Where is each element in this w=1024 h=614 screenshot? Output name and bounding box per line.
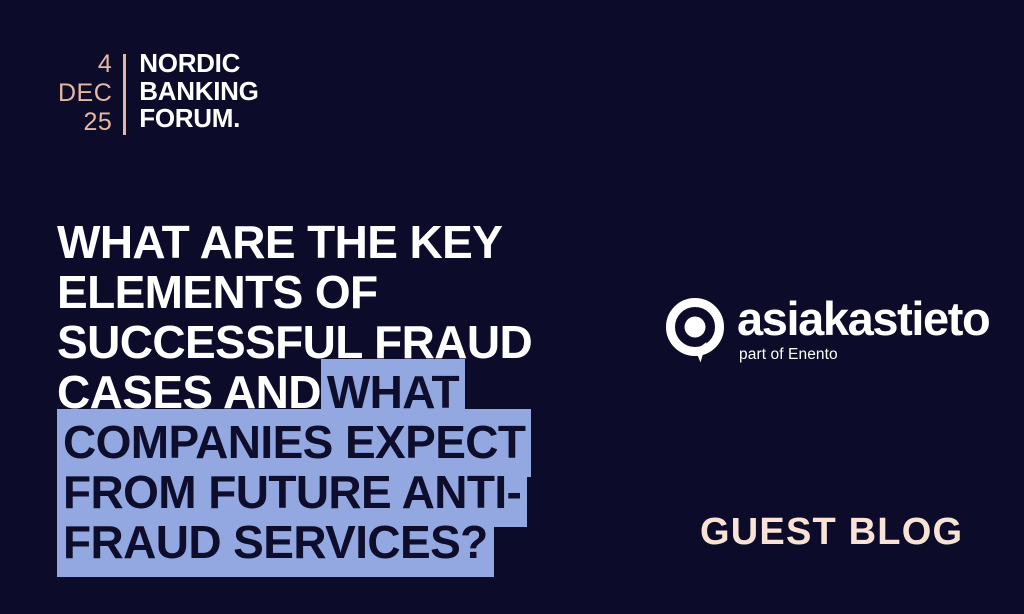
event-date-day: 4: [98, 50, 112, 79]
brand-name: asiakastieto: [737, 296, 989, 341]
headline-line-1-plain: WHAT ARE THE KEY: [57, 216, 502, 268]
headline-line-7: FRAUD SERVICES?: [57, 517, 677, 567]
event-logo: 4 DEC 25 NORDIC BANKING FORUM.: [58, 50, 259, 137]
event-date: 4 DEC 25: [58, 50, 123, 137]
brand-tagline: part of Enento: [739, 346, 989, 364]
event-date-year: 25: [83, 108, 112, 137]
event-name-line-2: BANKING: [139, 78, 258, 106]
brand-text: asiakastieto part of Enento: [737, 296, 989, 364]
location-pin-icon: [666, 298, 724, 371]
event-name-line-3: FORUM.: [139, 105, 258, 133]
headline-line-1: WHAT ARE THE KEY: [57, 217, 677, 267]
promo-banner: 4 DEC 25 NORDIC BANKING FORUM. WHAT ARE …: [0, 0, 1024, 614]
event-date-month: DEC: [58, 79, 112, 108]
guest-blog-label: GUEST BLOG: [700, 511, 963, 554]
headline-line-7-highlight: FRAUD SERVICES?: [57, 509, 494, 577]
headline-line-2: ELEMENTS OF: [57, 267, 677, 317]
page-title: WHAT ARE THE KEY ELEMENTS OF SUCCESSFUL …: [57, 217, 677, 567]
event-name: NORDIC BANKING FORUM.: [126, 50, 258, 137]
headline-line-2-plain: ELEMENTS OF: [57, 266, 378, 318]
brand-logo: asiakastieto part of Enento: [666, 296, 989, 371]
event-name-line-1: NORDIC: [139, 50, 258, 78]
